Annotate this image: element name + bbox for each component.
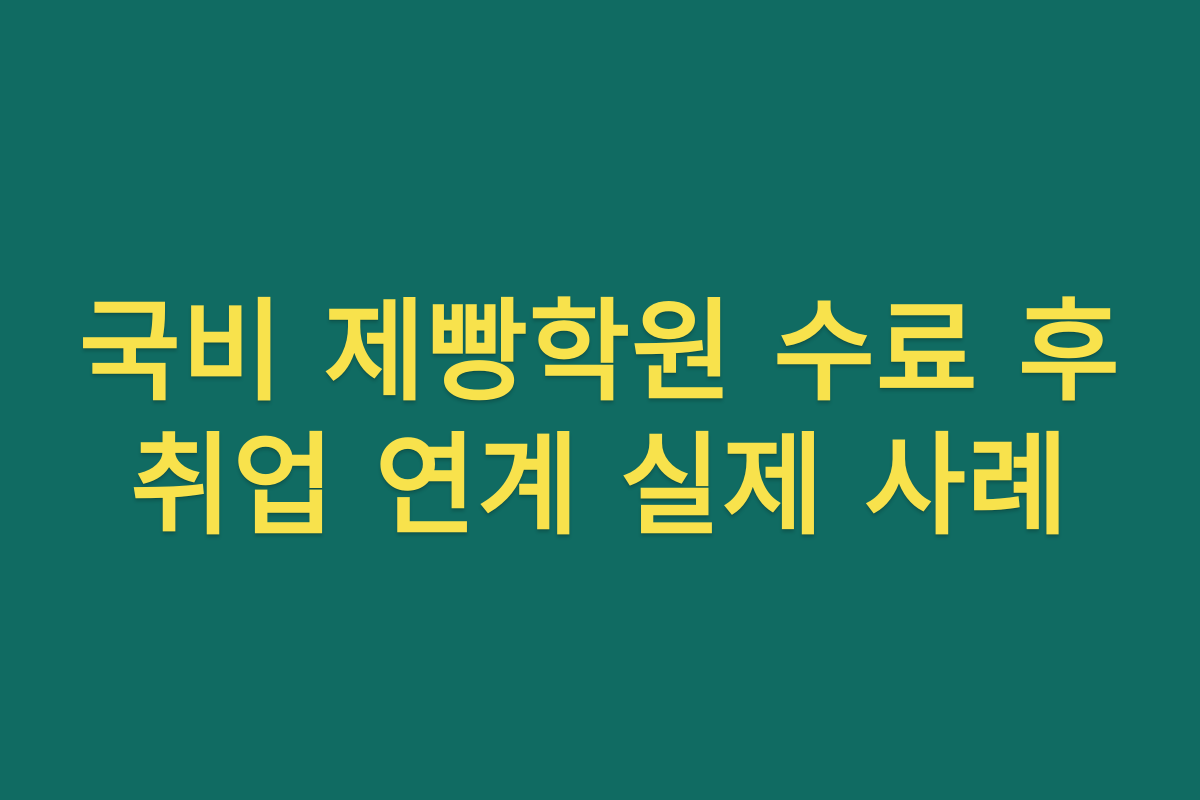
headline-line-2: 취업 연계 실제 사례 [0, 419, 1200, 553]
headline-block: 국비 제빵학원 수료 후 취업 연계 실제 사례 [0, 285, 1200, 553]
thumbnail-card: 국비 제빵학원 수료 후 취업 연계 실제 사례 [0, 0, 1200, 800]
headline-line-1: 국비 제빵학원 수료 후 [0, 285, 1200, 419]
